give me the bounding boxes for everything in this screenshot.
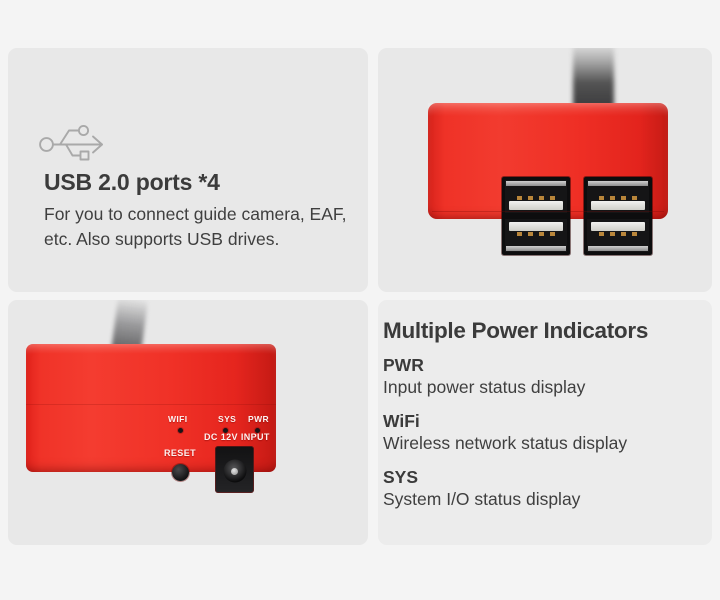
usb-pins-icon	[599, 196, 637, 200]
indicator-feature-text: Multiple Power Indicators PWR Input powe…	[383, 318, 708, 523]
usb-feature-description: For you to connect guide camera, EAF, et…	[44, 202, 368, 253]
usb-port	[505, 219, 567, 252]
usb-port-pair-left	[502, 177, 570, 255]
indicator-name: SYS	[383, 467, 708, 488]
usb-pins-icon	[599, 232, 637, 236]
silkscreen-label-sys: SYS	[218, 414, 236, 424]
panel-indicator-photo: WIFI SYS PWR RESET DC 12V INPUT	[8, 300, 368, 545]
device-body-red: WIFI SYS PWR RESET DC 12V INPUT	[26, 344, 276, 472]
silkscreen-label-reset: RESET	[164, 448, 196, 458]
usb-tongue	[509, 201, 563, 210]
dc-jack-ring	[223, 460, 246, 483]
usb-feature-text: USB 2.0 ports *4 For you to connect guid…	[44, 169, 368, 253]
usb-port	[505, 180, 567, 213]
usb-tongue	[591, 222, 645, 231]
usb-pins-icon	[517, 232, 555, 236]
indicator-description: Input power status display	[383, 377, 708, 399]
silkscreen-label-pwr: PWR	[248, 414, 269, 424]
indicator-name: WiFi	[383, 411, 708, 432]
reset-button[interactable]	[172, 464, 189, 481]
usb-pins-icon	[517, 196, 555, 200]
list-item: PWR Input power status display	[383, 355, 708, 399]
dc-jack-pin	[231, 468, 238, 475]
usb-port-pair-right	[584, 177, 652, 255]
silkscreen-label-wifi: WIFI	[168, 414, 188, 424]
feature-board: USB 2.0 ports *4 For you to connect guid…	[0, 0, 720, 600]
device-body-red	[428, 103, 668, 219]
panel-usb-feature: USB 2.0 ports *4 For you to connect guid…	[8, 48, 368, 292]
usb-tongue	[591, 201, 645, 210]
usb-feature-title: USB 2.0 ports *4	[44, 169, 368, 196]
usb-port	[587, 219, 649, 252]
dc-power-jack	[215, 446, 254, 493]
list-item: SYS System I/O status display	[383, 467, 708, 511]
list-item: WiFi Wireless network status display	[383, 411, 708, 455]
panel-usb-hub-photo	[378, 48, 712, 292]
led-indicator-wifi	[178, 428, 183, 433]
indicator-section-heading: Multiple Power Indicators	[383, 318, 708, 344]
indicator-description: System I/O status display	[383, 489, 708, 511]
usb-icon	[38, 120, 112, 162]
indicator-panel-photo: WIFI SYS PWR RESET DC 12V INPUT	[8, 300, 368, 545]
panel-indicator-feature: Multiple Power Indicators PWR Input powe…	[378, 300, 712, 545]
silkscreen-label-dc-input: DC 12V INPUT	[204, 432, 270, 442]
indicator-name: PWR	[383, 355, 708, 376]
indicator-description: Wireless network status display	[383, 433, 708, 455]
antenna-icon	[573, 48, 614, 108]
usb-port	[587, 180, 649, 213]
usb-tongue	[509, 222, 563, 231]
usb-hub-photo	[378, 48, 712, 292]
